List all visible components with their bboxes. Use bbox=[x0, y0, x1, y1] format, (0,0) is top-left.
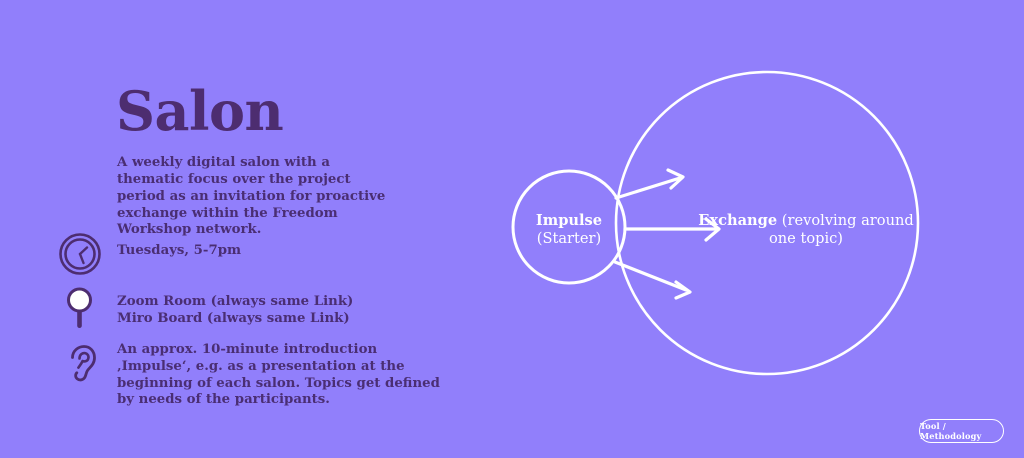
clock-icon bbox=[58, 232, 102, 276]
impulse-node-title: Impulse bbox=[499, 212, 639, 230]
link-line-miro[interactable]: Miro Board (always same Link) bbox=[117, 311, 447, 328]
slide-canvas: Salon A weekly digital salon with a them… bbox=[0, 0, 1024, 458]
exchange-node-title: Exchange bbox=[698, 212, 777, 229]
page-title: Salon bbox=[116, 84, 283, 138]
exchange-node-label: Exchange (revolving around one topic) bbox=[696, 212, 916, 248]
schedule-text: Tuesdays, 5-7pm bbox=[117, 243, 447, 260]
left-content-column: Salon A weekly digital salon with a them… bbox=[0, 0, 470, 458]
impulse-description: An approx. 10-minute introduction ‚Impul… bbox=[117, 342, 447, 409]
impulse-node-label: Impulse (Starter) bbox=[499, 212, 639, 248]
schedule-line-1: Tuesdays, 5-7pm bbox=[117, 243, 241, 258]
impulse-node-subtitle: (Starter) bbox=[499, 230, 639, 248]
intro-paragraph: A weekly digital salon with a thematic f… bbox=[117, 155, 397, 239]
exchange-node-subtitle: (revolving around one topic) bbox=[769, 212, 914, 247]
impulse-term: ‚Impulse‘ bbox=[117, 359, 187, 374]
link-line-zoom[interactable]: Zoom Room (always same Link) bbox=[117, 294, 447, 311]
impulse-text-before: An approx. 10-minute introduction bbox=[117, 342, 377, 357]
links-text: Zoom Room (always same Link) Miro Board … bbox=[117, 294, 447, 328]
diagram-area: Impulse (Starter) Exchange (revolving ar… bbox=[470, 0, 1024, 458]
magnifier-icon bbox=[58, 284, 102, 328]
ear-icon bbox=[58, 342, 102, 386]
arrow-upper bbox=[616, 170, 683, 198]
tool-methodology-badge[interactable]: Tool / Methodology bbox=[919, 419, 1004, 443]
